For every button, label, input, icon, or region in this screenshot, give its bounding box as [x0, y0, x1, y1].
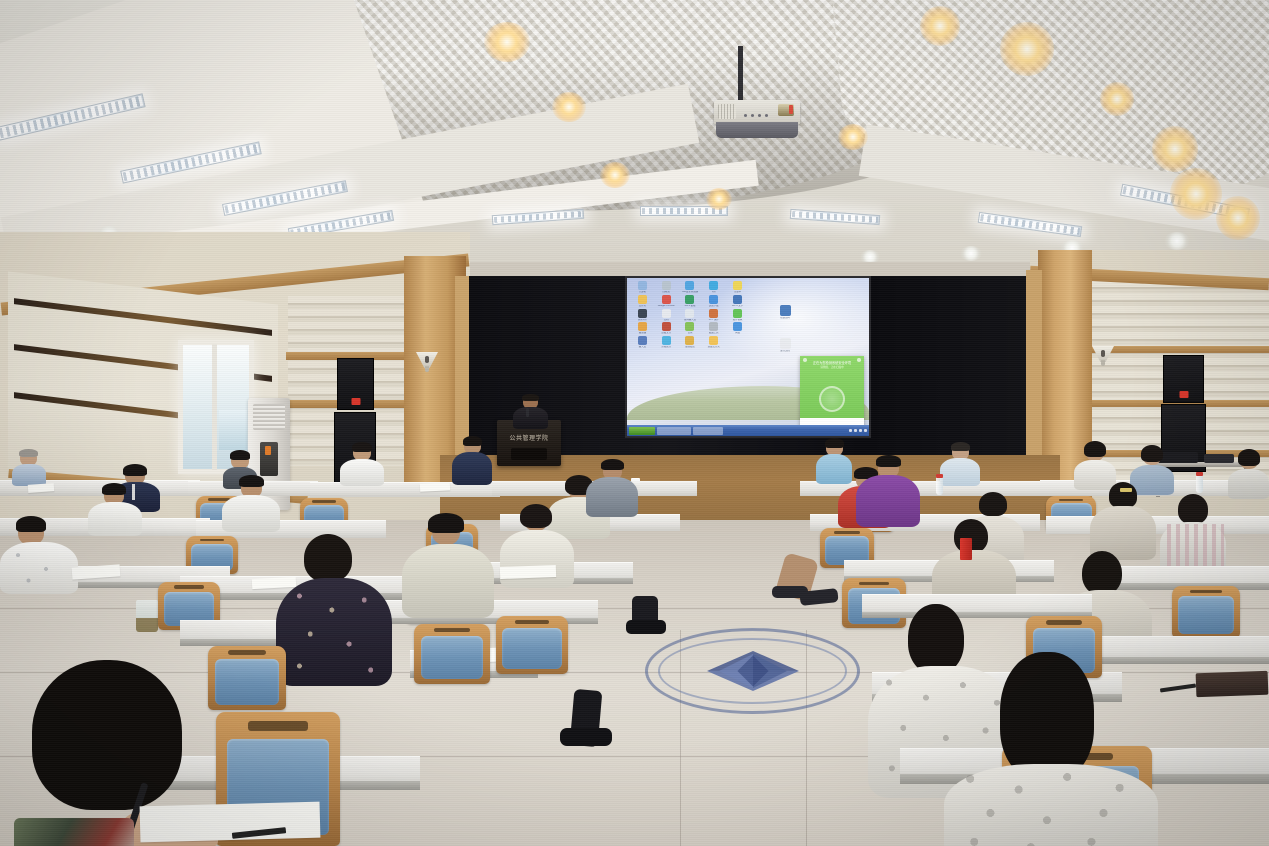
chair-handle — [228, 650, 265, 654]
cool-downlight — [960, 246, 982, 261]
desktop-icon-label: 音乐 — [680, 332, 700, 335]
desktop-icon[interactable]: 迅雷下载 — [702, 295, 725, 308]
chair-handle — [1190, 590, 1223, 594]
attendee-foreground-right — [944, 660, 1158, 846]
water-bottle — [936, 476, 943, 495]
start-button[interactable] — [629, 427, 655, 435]
tray-icon[interactable] — [854, 429, 857, 432]
hair — [19, 449, 38, 457]
attendee — [0, 520, 78, 590]
jbl-badge — [351, 398, 360, 405]
desktop-icon-label: 软件管家 — [728, 319, 748, 322]
desktop-icon-label: 培训资料 — [775, 317, 795, 320]
desktop-icon-glyph — [638, 309, 647, 318]
desktop-icon-glyph — [780, 305, 791, 316]
torso — [586, 477, 638, 517]
desktop-icon-glyph — [733, 322, 742, 331]
warm-downlight — [1216, 196, 1260, 240]
desk-surface — [1046, 516, 1269, 534]
hair-clip — [1120, 488, 1132, 492]
tray-icon[interactable] — [849, 429, 852, 432]
attendee — [1228, 452, 1269, 496]
desktop-icon-label: 回收站 — [656, 291, 676, 294]
desktop-icon[interactable]: 新建文件夹 — [702, 336, 725, 349]
torso — [856, 475, 920, 527]
desktop-icon-label: 驱动精灵 — [680, 346, 700, 349]
desktop-icon-glyph — [662, 336, 671, 345]
chair-cushion — [502, 628, 561, 670]
desktop-icon-glyph — [662, 322, 671, 331]
desktop-icon[interactable]: 压缩文件 — [655, 322, 678, 335]
hair — [979, 492, 1007, 516]
pattern — [4, 546, 74, 592]
dialog-close-icon[interactable] — [857, 358, 861, 362]
desktop-icon-glyph — [685, 309, 694, 318]
desktop-icon-glyph — [733, 295, 742, 304]
desktop-icon-glyph — [780, 338, 791, 349]
shoe — [560, 728, 612, 746]
hair — [951, 442, 970, 451]
desktop-icon-glyph — [709, 281, 718, 290]
desktop-icon-label: 360安全浏览器 — [680, 291, 700, 294]
troffer-light — [978, 212, 1083, 237]
desktop-icon-label: Google Chrome — [656, 305, 676, 308]
lectern-sign-text: 公共管理学院 — [501, 432, 557, 442]
hair — [1178, 494, 1208, 524]
projector-mount-rod — [738, 46, 743, 104]
speaker-right-top — [1163, 355, 1204, 403]
desktop-icon[interactable]: 播放器 — [631, 322, 654, 335]
projector-led — [751, 114, 754, 117]
projection-screen[interactable]: 计算机回收站360安全浏览器QQ记事本文件夹Google ChromeWPS 表… — [627, 278, 869, 436]
desktop-icon-glyph — [709, 309, 718, 318]
desktop-icon-glyph — [709, 322, 718, 331]
torso — [940, 458, 980, 486]
desktop-icon[interactable]: 截图工具 — [702, 322, 725, 335]
attendee — [276, 540, 392, 680]
sconce-bulb — [425, 356, 429, 363]
desktop-icon[interactable]: 驱动精灵 — [679, 336, 702, 349]
tray-icon[interactable] — [864, 429, 867, 432]
hair — [32, 660, 182, 810]
torso — [452, 452, 492, 485]
desktop-icon-glyph — [685, 322, 694, 331]
desktop-icon-grid[interactable]: 计算机回收站360安全浏览器QQ记事本文件夹Google ChromeWPS 表… — [631, 281, 749, 349]
chair-handle — [174, 585, 204, 588]
desktop-icon-glyph — [662, 309, 671, 318]
desktop-icon[interactable]: 软件管家 — [726, 309, 749, 322]
desktop-icon-glyph — [638, 295, 647, 304]
desktop-icon[interactable]: 音乐 — [679, 322, 702, 335]
desktop-icon-glyph — [733, 281, 742, 290]
desktop-icon[interactable]: WPS 文字 — [726, 295, 749, 308]
desktop-icon[interactable]: QQ — [702, 281, 725, 294]
jbl-badge — [1179, 391, 1188, 398]
window-pane — [183, 345, 213, 469]
attendee — [340, 444, 384, 484]
desktop-icon[interactable]: Google Chrome — [655, 295, 678, 308]
bag — [14, 818, 134, 846]
chair[interactable] — [208, 646, 286, 710]
microphone — [526, 408, 529, 417]
troffer-light — [790, 209, 880, 225]
projection-screen-frame: 计算机回收站360安全浏览器QQ记事本文件夹Google ChromeWPS 表… — [625, 276, 871, 438]
chair-handle — [834, 531, 860, 534]
system-tray[interactable] — [849, 429, 867, 432]
update-dialog[interactable]: 正在为您检测系统安全环境 请稍候，正在扫描中 立即处理 — [800, 356, 864, 436]
projector-led — [744, 114, 747, 117]
dialog-subtitle: 请稍候，正在扫描中 — [804, 366, 860, 369]
shoe — [626, 620, 666, 634]
ac-grille — [253, 404, 285, 430]
projector-led — [765, 114, 768, 117]
desktop-icon-label: 文件夹 — [632, 305, 652, 308]
desktop-icon-label: WPS 文字 — [728, 305, 748, 308]
tea-glass — [136, 600, 158, 632]
hair — [1141, 445, 1163, 462]
chair-cushion — [1178, 596, 1234, 633]
attendee — [1090, 486, 1156, 556]
notebook-paper — [140, 802, 321, 843]
chair-handle — [312, 500, 335, 502]
hair — [1000, 652, 1094, 780]
sconce-stem — [425, 366, 429, 372]
desktop-icon-glyph — [638, 281, 647, 290]
warm-downlight — [920, 6, 960, 46]
desktop-icon[interactable]: 计算机 — [631, 281, 654, 294]
torso — [12, 464, 46, 486]
desktop-icon-glyph — [662, 295, 671, 304]
bottle-cap — [1196, 472, 1203, 476]
hair — [1238, 449, 1260, 466]
torso — [500, 530, 574, 588]
desktop-icon[interactable]: 文件夹 — [631, 295, 654, 308]
chair-handle — [1046, 620, 1082, 624]
desktop-icon-glyph — [685, 336, 694, 345]
water-bottle — [1196, 474, 1203, 493]
hair — [1084, 441, 1106, 457]
desktop-icon-glyph — [638, 336, 647, 345]
warm-downlight — [838, 124, 868, 150]
attendee — [452, 438, 492, 484]
desktop-icon-glyph — [733, 309, 742, 318]
desktop-icon[interactable]: 文档 — [655, 309, 678, 322]
desktop-icon[interactable]: 培训资料 — [775, 305, 795, 320]
desktop-icon-label: 截图工具 — [704, 332, 724, 335]
torso — [222, 495, 280, 532]
desktop-icon-label: 记事本 — [728, 291, 748, 294]
window-view — [219, 410, 247, 450]
floral-pattern — [280, 582, 388, 682]
paper — [500, 565, 556, 579]
desktop-icon[interactable]: WPS 表格 — [679, 295, 702, 308]
projector-vent — [718, 104, 736, 119]
taskbar[interactable] — [627, 425, 869, 436]
hair — [876, 455, 901, 467]
warm-downlight — [1152, 126, 1198, 172]
desktop-icon-glyph — [685, 295, 694, 304]
torso — [1228, 469, 1269, 499]
chair-handle — [515, 620, 550, 624]
projector-led — [758, 114, 761, 117]
ac-display-led — [265, 446, 271, 455]
attendee — [856, 458, 920, 524]
desktop-icon[interactable]: 360安全浏览器 — [679, 281, 702, 294]
hair — [239, 475, 264, 487]
desktop-icon[interactable]: 输入法 — [631, 336, 654, 349]
lecture-hall-photo: 计算机回收站360安全浏览器QQ记事本文件夹Google ChromeWPS 表… — [0, 0, 1269, 846]
presenter — [510, 395, 550, 427]
cool-downlight — [860, 250, 880, 262]
desktop-icon[interactable]: 回收站 — [655, 281, 678, 294]
desktop-icon-label: 文档 — [656, 319, 676, 322]
chair-handle — [248, 721, 308, 730]
stripe-pattern — [1162, 524, 1224, 572]
hair — [463, 436, 482, 446]
desk-row2-right2 — [1046, 516, 1269, 534]
desktop-icon-label: 搜狗输入法 — [680, 319, 700, 322]
projector-lens — [778, 104, 794, 116]
desktop-icon-label: WPS 表格 — [680, 305, 700, 308]
ceiling — [0, 0, 1269, 262]
window-mullion — [212, 344, 217, 470]
torso — [88, 502, 142, 536]
desktop-icon-glyph — [685, 281, 694, 290]
dialog-title: 正在为您检测系统安全环境 — [804, 361, 860, 365]
cool-downlight — [1164, 232, 1190, 250]
desktop-icon-glyph — [638, 322, 647, 331]
attendee — [940, 444, 980, 484]
sconce-bulb — [1101, 350, 1105, 357]
desktop-icon[interactable]: 搜狗输入法 — [679, 309, 702, 322]
warm-downlight — [1000, 22, 1054, 76]
hair — [352, 442, 372, 452]
tray-icon[interactable] — [859, 429, 862, 432]
desktop-icon-label: 输入法 — [632, 346, 652, 349]
desktop-icon[interactable]: 腾讯QQ — [631, 309, 654, 322]
projector-base — [716, 122, 798, 138]
attendee — [1160, 498, 1226, 570]
desktop-icon-column-right[interactable]: 培训资料课件文档 — [775, 305, 795, 353]
taskbar-item[interactable] — [657, 427, 691, 435]
desktop-icon[interactable]: 杀毒软件 — [655, 336, 678, 349]
warm-downlight — [600, 162, 630, 188]
desktop-icon-label: 课件文档 — [775, 350, 795, 353]
scan-progress-ring — [819, 386, 845, 412]
floor-medallion — [645, 628, 860, 714]
desktop-icon-label: 迅雷下载 — [704, 305, 724, 308]
presenter-hair — [522, 394, 539, 401]
warm-downlight — [1100, 82, 1134, 116]
warm-downlight — [484, 22, 530, 62]
attendee — [1074, 444, 1116, 488]
chair-handle — [1059, 499, 1083, 502]
desktop-icon-label: 计算机 — [632, 291, 652, 294]
hair — [428, 513, 464, 533]
attendee — [402, 518, 494, 616]
hair — [1109, 482, 1137, 508]
desktop-icon-label: PPT 课件 — [704, 319, 724, 322]
warm-downlight — [552, 92, 586, 122]
desktop-icon-label: 播放器 — [632, 332, 652, 335]
chair-cushion — [421, 636, 483, 679]
presenter-torso — [513, 407, 548, 429]
warm-downlight — [1170, 168, 1222, 220]
lectern-panel — [511, 448, 547, 460]
warm-downlight — [706, 188, 732, 210]
attendee — [222, 478, 280, 530]
speaker-left-top — [337, 358, 374, 410]
desktop-icon[interactable]: PPT 课件 — [702, 309, 725, 322]
chair[interactable] — [496, 616, 568, 674]
desktop-icon-glyph — [709, 336, 718, 345]
desktop-icon[interactable]: 课件文档 — [775, 338, 795, 353]
chair[interactable] — [414, 624, 490, 684]
desktop-icon-label: QQ — [704, 291, 724, 294]
desktop-icon-label: 压缩文件 — [656, 332, 676, 335]
dialog-menu-icon[interactable] — [803, 358, 807, 362]
soda-can — [960, 538, 972, 560]
attendee — [12, 450, 46, 484]
desktop-icon-label: 新建文件夹 — [704, 346, 724, 349]
desktop-icon-label: 杀毒软件 — [656, 346, 676, 349]
attendee — [88, 486, 142, 534]
desktop-icon[interactable]: 网盘 — [726, 322, 749, 335]
stage-frame-right — [1026, 270, 1042, 470]
hair — [102, 483, 126, 495]
polkadot-pattern — [950, 768, 1152, 846]
hair — [1082, 551, 1122, 595]
torso — [402, 544, 494, 618]
hair — [825, 438, 844, 448]
desktop-icon-glyph — [709, 295, 718, 304]
sconce-stem — [1101, 360, 1105, 366]
projector-body — [714, 100, 800, 124]
desktop-icon-label: 网盘 — [728, 332, 748, 335]
dialog-header: 正在为您检测系统安全环境 请稍候，正在扫描中 — [800, 356, 864, 418]
desktop-icon[interactable]: 记事本 — [726, 281, 749, 294]
ceiling-projector — [714, 100, 800, 138]
notebook — [1196, 671, 1269, 697]
hair — [230, 450, 250, 460]
chair-handle — [200, 539, 225, 542]
hair — [601, 459, 624, 470]
hair — [16, 516, 46, 532]
attendee — [586, 462, 638, 516]
hair — [520, 504, 552, 528]
chair-cushion — [215, 659, 279, 705]
desktop-icon-label: 腾讯QQ — [632, 319, 652, 322]
chair-handle — [859, 582, 890, 586]
chair[interactable] — [1172, 586, 1240, 638]
desktop-icon-glyph — [662, 281, 671, 290]
chair-handle — [434, 628, 470, 632]
torso — [340, 459, 384, 486]
paper — [420, 482, 450, 492]
bottle-cap — [936, 474, 943, 478]
taskbar-item[interactable] — [693, 427, 723, 435]
hair — [304, 534, 352, 582]
hair — [123, 464, 147, 476]
